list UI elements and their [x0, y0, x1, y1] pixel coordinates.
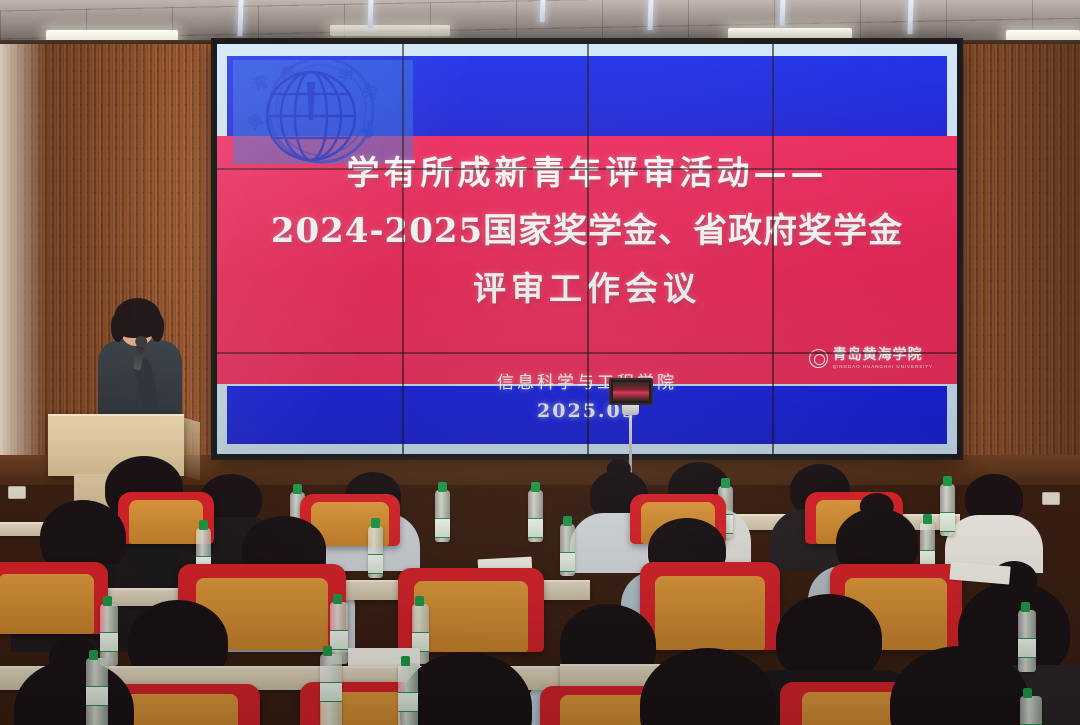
slide-title-line-3: 评审工作会议: [227, 260, 947, 318]
water-bottle: [320, 654, 342, 725]
audience-person: [640, 648, 776, 725]
person-hair: [776, 594, 882, 682]
chair-cushion: [0, 574, 94, 634]
svg-text:岛: 岛: [279, 64, 297, 84]
audience-person: [14, 660, 134, 725]
water-bottle: [368, 526, 383, 578]
person-hair: [640, 648, 776, 725]
audience-seating: [0, 452, 1080, 725]
conference-photo: 青 岛 学 院 海 黄 学有所成新青年评审活动—— 2024-2025国家奖学金…: [0, 0, 1080, 725]
ceiling-light-strip: [780, 0, 786, 26]
slide-title: 学有所成新青年评审活动—— 2024-2025国家奖学金、省政府奖学金 评审工作…: [227, 144, 947, 318]
ceiling-light-strip: [540, 0, 546, 22]
person-hair: [890, 646, 1030, 725]
speaker-hair: [114, 298, 161, 338]
ceiling-light-strip: [647, 0, 653, 30]
university-emblem-icon: [809, 349, 828, 368]
water-bottle: [528, 490, 543, 542]
audience-person: [400, 652, 532, 725]
water-bottle: [1020, 696, 1042, 725]
slide-content-area: 青 岛 学 院 海 黄 学有所成新青年评审活动—— 2024-2025国家奖学金…: [227, 56, 947, 440]
chair-cushion: [414, 581, 528, 652]
university-name-en: QINGDAO HUANGHAI UNIVERSITY: [833, 365, 933, 370]
university-logo-text: 青岛黄海学院 QINGDAO HUANGHAI UNIVERSITY: [833, 348, 933, 369]
slide-date: 2025.09: [227, 400, 947, 422]
audience-person: [965, 474, 1023, 522]
phone-screen: [613, 382, 649, 401]
audience-person: [890, 646, 1030, 725]
slide-organization: 信息科学与工程学院: [227, 368, 947, 393]
chair-cushion: [655, 576, 764, 650]
water-bottle: [100, 604, 118, 666]
university-name-cn: 青岛黄海学院: [833, 348, 933, 362]
university-logo-lockup: 青岛黄海学院 QINGDAO HUANGHAI UNIVERSITY: [809, 348, 933, 369]
recording-phone[interactable]: [609, 378, 653, 405]
chair: [0, 562, 108, 634]
water-bottle: [940, 484, 955, 536]
water-bottle: [560, 524, 575, 576]
slide-title-line-2: 2024-2025国家奖学金、省政府奖学金: [227, 202, 947, 260]
water-bottle: [86, 658, 108, 725]
chair: [640, 562, 780, 650]
ceiling-light-strip: [368, 0, 374, 28]
audience-person: [776, 594, 882, 682]
person-hair: [400, 652, 532, 725]
video-wall-display[interactable]: 青 岛 学 院 海 黄 学有所成新青年评审活动—— 2024-2025国家奖学金…: [213, 40, 961, 458]
slide-title-line-1: 学有所成新青年评审活动——: [227, 144, 947, 202]
presentation-slide: 青 岛 学 院 海 黄 学有所成新青年评审活动—— 2024-2025国家奖学金…: [217, 44, 957, 454]
water-bottle: [398, 664, 418, 725]
chair-cushion: [129, 500, 204, 544]
person-hair: [14, 660, 134, 725]
ceiling-light-panel: [330, 25, 450, 36]
water-bottle: [435, 490, 450, 542]
svg-text:学: 学: [336, 66, 354, 86]
